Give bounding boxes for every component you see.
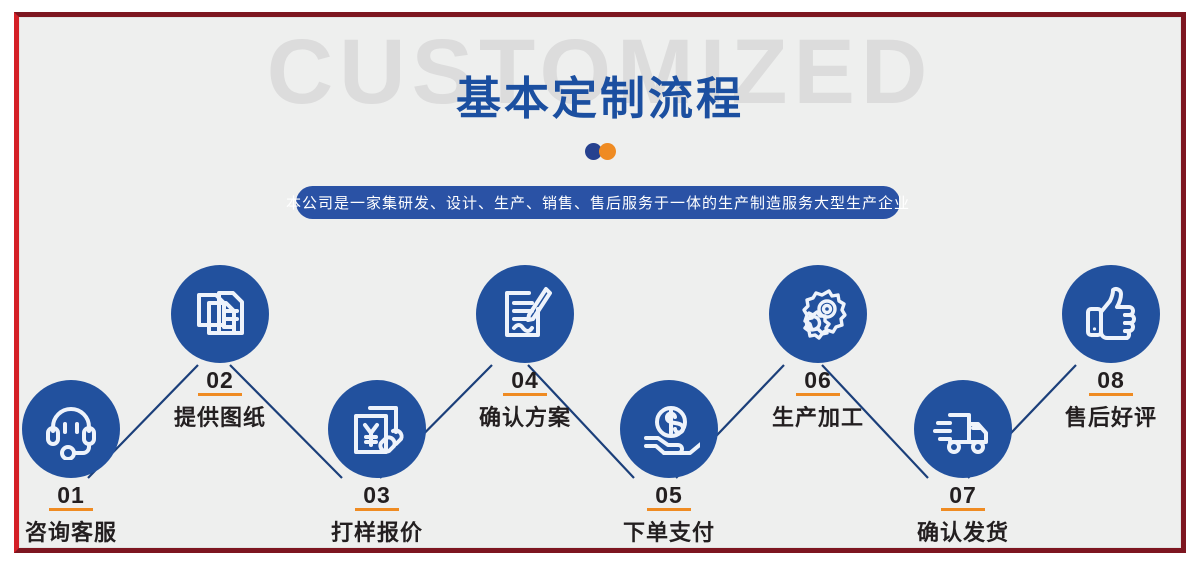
step-number-rule-08 [1089, 393, 1133, 396]
step-icon-circle-05 [620, 380, 718, 478]
step-icon-circle-04 [476, 265, 574, 363]
step-icon-circle-07 [914, 380, 1012, 478]
step-label-02: 提供图纸 [135, 400, 305, 432]
company-subtitle-banner: 本公司是一家集研发、设计、生产、销售、售后服务于一体的生产制造服务大型生产企业 [296, 186, 900, 219]
headset-icon [40, 398, 102, 460]
step-number-05: 05 [584, 483, 754, 507]
step-icon-circle-06 [769, 265, 867, 363]
step-item-07[interactable]: 07 确认发货 [878, 380, 1048, 547]
customization-process-poster: CUSTOMIZED 基本定制流程 本公司是一家集研发、设计、生产、销售、售后服… [0, 0, 1200, 567]
step-number-rule-03 [355, 508, 399, 511]
step-item-08[interactable]: 08 售后好评 [1026, 265, 1196, 432]
step-number-02: 02 [135, 368, 305, 392]
step-label-03: 打样报价 [292, 515, 462, 547]
step-item-05[interactable]: 05 下单支付 [584, 380, 754, 547]
step-number-rule-07 [941, 508, 985, 511]
delivery-truck-icon [932, 398, 994, 460]
documents-icon [189, 283, 251, 345]
step-label-07: 确认发货 [878, 515, 1048, 547]
price-quote-icon [346, 398, 408, 460]
step-number-03: 03 [292, 483, 462, 507]
gears-icon [787, 283, 849, 345]
step-number-rule-05 [647, 508, 691, 511]
step-item-02[interactable]: 02 提供图纸 [135, 265, 305, 432]
decorative-dots [0, 143, 1200, 160]
hand-coin-icon [638, 398, 700, 460]
thumbs-up-icon [1080, 283, 1142, 345]
step-number-08: 08 [1026, 368, 1196, 392]
step-number-rule-04 [503, 393, 547, 396]
step-icon-circle-03 [328, 380, 426, 478]
step-number-07: 07 [878, 483, 1048, 507]
step-icon-circle-02 [171, 265, 269, 363]
step-item-03[interactable]: 03 打样报价 [292, 380, 462, 547]
step-number-01: 01 [0, 483, 156, 507]
signed-document-icon [494, 283, 556, 345]
step-label-01: 咨询客服 [0, 515, 156, 547]
dot-orange-icon [599, 143, 616, 160]
step-number-rule-01 [49, 508, 93, 511]
page-title: 基本定制流程 [0, 62, 1200, 127]
step-item-01[interactable]: 01 咨询客服 [0, 380, 156, 547]
step-icon-circle-01 [22, 380, 120, 478]
step-number-rule-02 [198, 393, 242, 396]
step-icon-circle-08 [1062, 265, 1160, 363]
step-label-05: 下单支付 [584, 515, 754, 547]
step-label-08: 售后好评 [1026, 400, 1196, 432]
step-number-rule-06 [796, 393, 840, 396]
